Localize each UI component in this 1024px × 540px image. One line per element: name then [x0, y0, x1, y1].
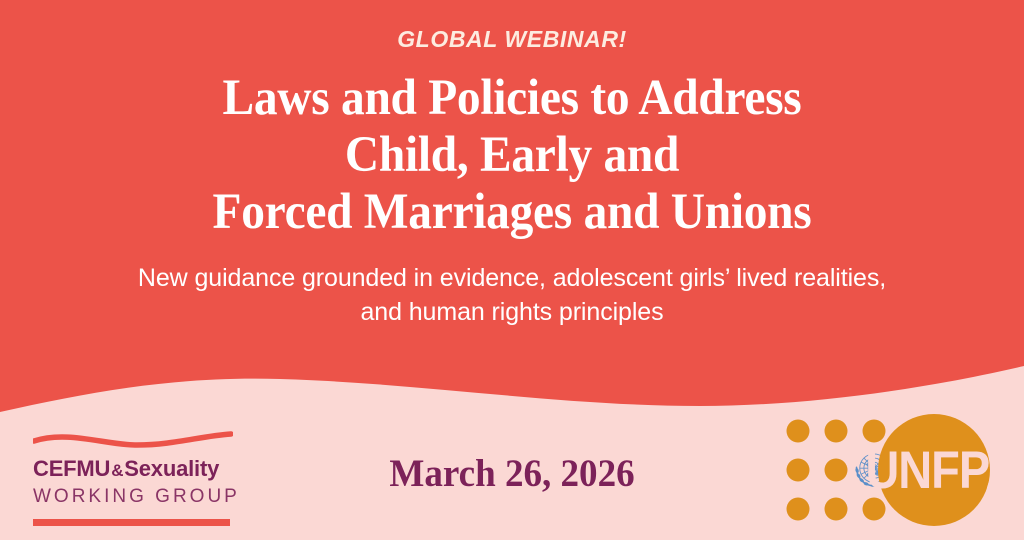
unfpa-wordmark-text: UNFPA — [865, 441, 1006, 500]
cefmu-wave-icon — [33, 431, 233, 453]
subtitle-line-1: New guidance grounded in evidence, adole… — [0, 262, 1024, 296]
cefmu-ampersand: & — [110, 461, 124, 480]
subtitle-line-2: and human rights principles — [0, 296, 1024, 330]
hero-text-block: GLOBAL WEBINAR! Laws and Policies to Add… — [0, 0, 1024, 329]
cefmu-logo-line-1: CEFMU&Sexuality — [33, 453, 233, 482]
cefmu-sexuality-word: Sexuality — [124, 456, 219, 481]
eyebrow-label: GLOBAL WEBINAR! — [0, 0, 1024, 53]
cefmu-acronym: CEFMU — [33, 456, 110, 481]
page-title: Laws and Policies to Address Child, Earl… — [0, 53, 1024, 241]
footer-band: CEFMU&Sexuality WORKING GROUP March 26, … — [0, 390, 1024, 540]
headline-line-2: Child, Early and — [36, 127, 988, 184]
unfpa-logo: UNFPA — [784, 412, 1006, 528]
subtitle: New guidance grounded in evidence, adole… — [0, 241, 1024, 329]
webinar-banner: GLOBAL WEBINAR! Laws and Policies to Add… — [0, 0, 1024, 540]
headline-line-1: Laws and Policies to Address — [36, 70, 988, 127]
event-date: March 26, 2026 — [308, 451, 717, 496]
cefmu-underline-bar — [33, 519, 230, 526]
headline-line-3: Forced Marriages and Unions — [36, 184, 988, 241]
cefmu-logo-line-2: WORKING GROUP — [33, 482, 233, 508]
cefmu-working-group-logo: CEFMU&Sexuality WORKING GROUP — [33, 431, 233, 526]
unfpa-logo-graphic: UNFPA — [784, 412, 1006, 528]
unfpa-wordmark-disc: UNFPA — [865, 414, 1006, 526]
